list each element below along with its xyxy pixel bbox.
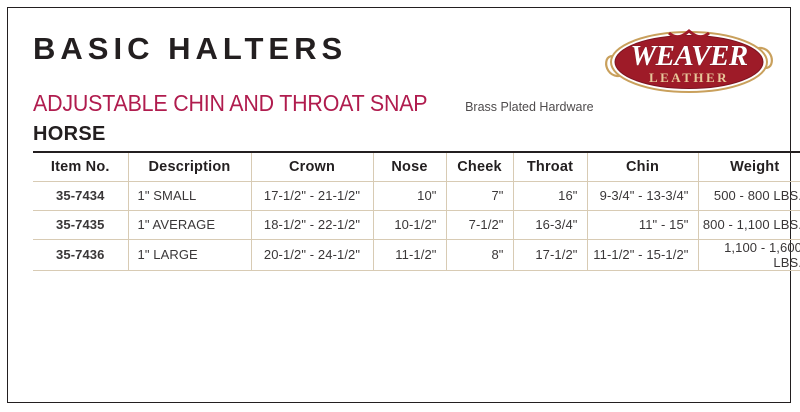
logo-sub-brand-text: LEATHER [649,70,729,85]
cell-weight: 800 - 1,100 LBS. [698,210,800,239]
cell-description: 1" LARGE [128,239,251,270]
specification-table: Item No. Description Crown Nose Cheek Th… [33,151,800,271]
cell-throat: 17-1/2" [513,239,587,270]
svg-text:WEAVER: WEAVER [630,40,748,72]
column-header-item-no: Item No. [33,152,128,181]
cell-item-no: 35-7436 [33,239,128,270]
page-subtitle: ADJUSTABLE CHIN AND THROAT SNAP [33,92,427,115]
table-row: 35-7436 1" LARGE 20-1/2" - 24-1/2" 11-1/… [33,239,800,270]
column-header-cheek: Cheek [446,152,513,181]
column-header-nose: Nose [373,152,446,181]
table-body: 35-7434 1" SMALL 17-1/2" - 21-1/2" 10" 7… [33,181,800,270]
cell-chin: 11" - 15" [587,210,698,239]
cell-cheek: 7-1/2" [446,210,513,239]
table-header: Item No. Description Crown Nose Cheek Th… [33,152,800,181]
cell-crown: 18-1/2" - 22-1/2" [251,210,373,239]
cell-weight: 1,100 - 1,600 LBS. [698,239,800,270]
hardware-note: Brass Plated Hardware [465,101,594,114]
cell-throat: 16" [513,181,587,210]
cell-item-no: 35-7435 [33,210,128,239]
logo-brand-text: WEAVER [630,40,748,72]
section-label-horse: HORSE [33,124,106,144]
column-header-weight: Weight [698,152,800,181]
cell-crown: 20-1/2" - 24-1/2" [251,239,373,270]
subtitle-row: ADJUSTABLE CHIN AND THROAT SNAP Brass Pl… [33,92,594,115]
table-row: 35-7435 1" AVERAGE 18-1/2" - 22-1/2" 10-… [33,210,800,239]
cell-description: 1" AVERAGE [128,210,251,239]
cell-nose: 10" [373,181,446,210]
cell-item-no: 35-7434 [33,181,128,210]
page-content: BASIC HALTERS ADJUSTABLE CHIN AND THROAT… [8,8,790,402]
cell-cheek: 7" [446,181,513,210]
column-header-throat: Throat [513,152,587,181]
table-row: 35-7434 1" SMALL 17-1/2" - 21-1/2" 10" 7… [33,181,800,210]
cell-throat: 16-3/4" [513,210,587,239]
column-header-crown: Crown [251,152,373,181]
cell-crown: 17-1/2" - 21-1/2" [251,181,373,210]
page-title: BASIC HALTERS [33,33,347,64]
column-header-description: Description [128,152,251,181]
table-header-row: Item No. Description Crown Nose Cheek Th… [33,152,800,181]
cell-cheek: 8" [446,239,513,270]
svg-text:LEATHER: LEATHER [649,70,729,85]
cell-weight: 500 - 800 LBS. [698,181,800,210]
column-header-chin: Chin [587,152,698,181]
cell-chin: 9-3/4" - 13-3/4" [587,181,698,210]
cell-description: 1" SMALL [128,181,251,210]
cell-chin: 11-1/2" - 15-1/2" [587,239,698,270]
catalog-page: BASIC HALTERS ADJUSTABLE CHIN AND THROAT… [7,7,791,403]
cell-nose: 10-1/2" [373,210,446,239]
cell-nose: 11-1/2" [373,239,446,270]
weaver-leather-logo: WEAVER LEATHER [591,24,787,100]
